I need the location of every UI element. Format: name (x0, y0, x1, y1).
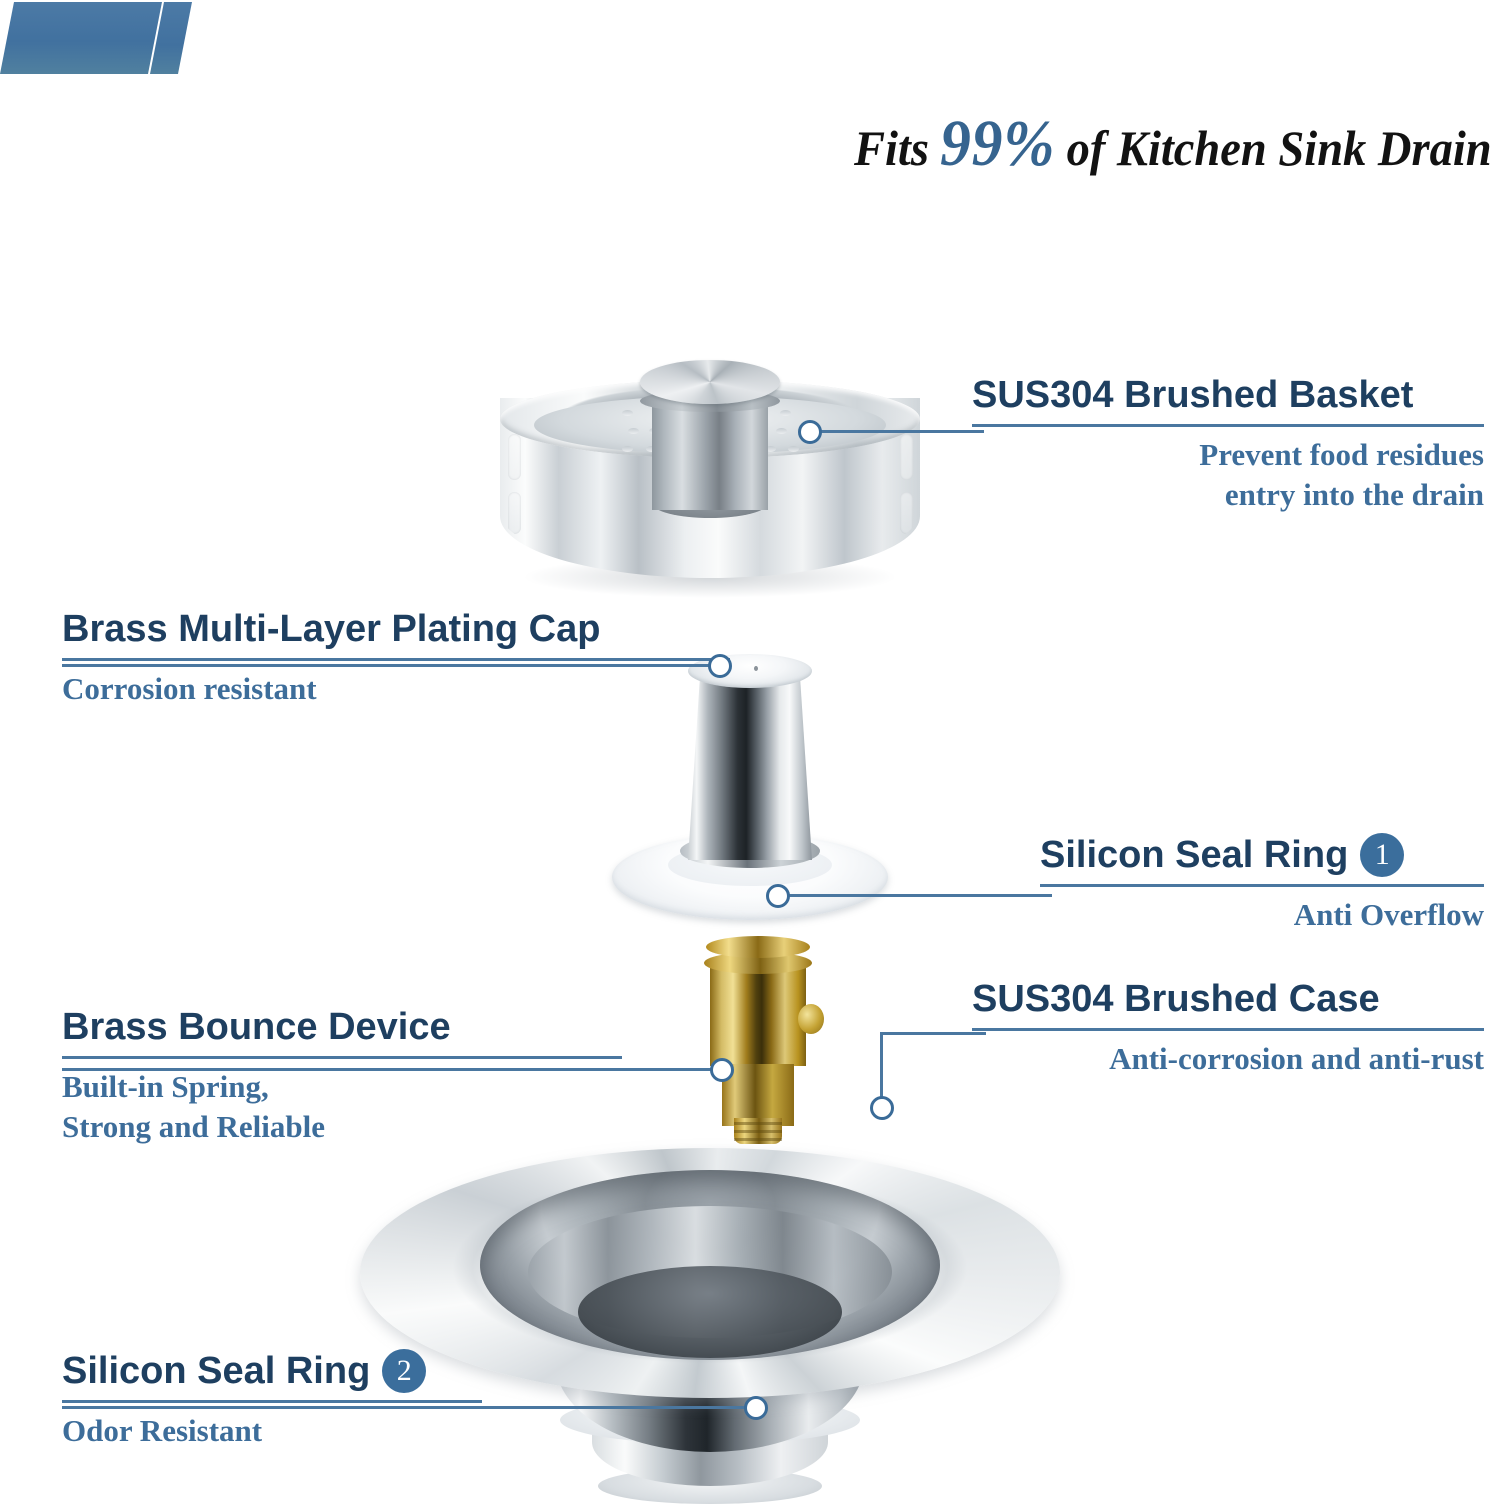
basket-hole (693, 446, 704, 452)
callout-rule (62, 1400, 482, 1403)
brass-threaded-stud (734, 1118, 782, 1144)
basket-hole (670, 428, 681, 434)
basket-hole (788, 446, 799, 452)
silicon-seal-ring-1-image (612, 834, 888, 920)
callout-rule (972, 1028, 1484, 1031)
brass-upper-ring (706, 936, 810, 958)
callout-rule (62, 1056, 622, 1059)
callout-brass-bounce-device: Brass Bounce Device Built-in Spring, Str… (62, 1004, 622, 1147)
silicon-seal-ring-2-lower (560, 1396, 860, 1444)
basket-center-post (652, 382, 768, 510)
basket-post-edge (640, 390, 780, 412)
subtitle-fits-claim: Fits99%of Kitchen Sink Drain (854, 112, 1492, 180)
basket-hole (654, 410, 665, 416)
basket-hole (755, 428, 766, 434)
callout-title-text: Silicon Seal Ring (1040, 832, 1348, 878)
subtitle-percentage: 99% (940, 107, 1055, 180)
callout-title: SUS304 Brushed Case (972, 976, 1484, 1022)
basket-hole (712, 428, 723, 434)
callout-title: Silicon Seal Ring 1 (1040, 832, 1484, 878)
callout-rule (1040, 884, 1484, 887)
callout-title: Silicon Seal Ring 2 (62, 1348, 482, 1394)
basket-floor-holes (620, 410, 810, 444)
callout-title: SUS304 Brushed Basket (972, 372, 1484, 418)
basket-slot-group (500, 400, 920, 572)
brass-thread-line (734, 1122, 782, 1125)
callout-subtitle-line2: Strong and Reliable (62, 1107, 622, 1147)
case-foot-bottom (598, 1468, 822, 1504)
basket-hole (749, 410, 760, 416)
sus304-brushed-basket-image (500, 360, 920, 615)
basket-slot-lower (508, 492, 521, 534)
connector-dot (766, 884, 790, 908)
brass-side-knob (798, 1004, 824, 1034)
brass-body (710, 966, 806, 1066)
basket-hole (622, 446, 633, 452)
basket-hole (741, 446, 752, 452)
cap-vent-pin (754, 666, 758, 671)
basket-post-top (640, 360, 780, 404)
basket-hole (622, 410, 633, 416)
connector-dot (710, 1058, 734, 1082)
brass-bounce-device-image (694, 930, 822, 1145)
basket-rim (500, 380, 920, 458)
brass-upper-ring-lower (704, 952, 812, 974)
basket-post-base (652, 488, 768, 518)
basket-slot-lower (900, 492, 913, 534)
callout-silicon-seal-ring-2: Silicon Seal Ring 2 Odor Resistant (62, 1348, 482, 1451)
case-bowl (480, 1170, 940, 1360)
basket-slot (900, 434, 913, 480)
connector-dot (798, 420, 822, 444)
callout-silicon-seal-ring-1: Silicon Seal Ring 1 Anti Overflow (1040, 832, 1484, 935)
brass-thread-line (734, 1130, 782, 1133)
callout-subtitle-line1: Prevent food residues (972, 435, 1484, 475)
case-bowl-inner (528, 1206, 892, 1338)
seal-ring-1-highlight (668, 844, 832, 886)
basket-hole (649, 428, 660, 434)
callout-rule (62, 658, 730, 661)
basket-hole (776, 428, 787, 434)
callout-subtitle-line1: Odor Resistant (62, 1411, 482, 1451)
case-neck (556, 1324, 864, 1452)
basket-shadow (522, 556, 898, 598)
callout-sus304-brushed-basket: SUS304 Brushed Basket Prevent food resid… (972, 372, 1484, 515)
product-exploded-diagram (0, 0, 1500, 1494)
callout-title: Brass Multi-Layer Plating Cap (62, 606, 730, 652)
callout-brass-multi-layer-plating-cap: Brass Multi-Layer Plating Cap Corrosion … (62, 606, 730, 709)
basket-hole (734, 428, 745, 434)
header-accent-parallelogram (0, 2, 162, 74)
callout-subtitle-line1: Corrosion resistant (62, 669, 730, 709)
basket-hole (691, 428, 702, 434)
case-foot (592, 1424, 828, 1486)
subtitle-suffix: of Kitchen Sink Drain (1067, 120, 1492, 176)
basket-hole (717, 446, 728, 452)
silicon-seal-ring-2-image (548, 1316, 872, 1372)
callout-subtitle-line1: Anti-corrosion and anti-rust (972, 1039, 1484, 1079)
case-bowl-deep (578, 1266, 842, 1358)
basket-hole (670, 446, 681, 452)
connector-dot (870, 1096, 894, 1120)
basket-hole (717, 410, 728, 416)
brass-thread-line (734, 1138, 782, 1141)
connector-dot (744, 1396, 768, 1420)
callout-subtitle-line2: entry into the drain (972, 475, 1484, 515)
basket-hole (685, 410, 696, 416)
basket-slot (508, 434, 521, 480)
basket-hole (765, 446, 776, 452)
header-banner: UPDATED ALL-METAL STRUCTURE (0, 0, 1500, 95)
connector-dot (708, 654, 732, 678)
basket-inner-floor (534, 396, 886, 454)
callout-title-text: Silicon Seal Ring (62, 1348, 370, 1394)
basket-hole (780, 410, 791, 416)
callout-title: Brass Bounce Device (62, 1004, 622, 1050)
callout-badge: 2 (382, 1349, 426, 1393)
basket-hole (628, 428, 639, 434)
basket-hole (646, 446, 657, 452)
callout-rule (972, 424, 1484, 427)
basket-body (500, 398, 920, 578)
callout-badge: 1 (1360, 833, 1404, 877)
page-title: UPDATED ALL-METAL STRUCTURE (182, 0, 1443, 80)
callout-subtitle-line1: Built-in Spring, (62, 1067, 622, 1107)
subtitle-prefix: Fits (854, 120, 929, 176)
cap-base-ring (680, 834, 820, 868)
callout-sus304-brushed-case: SUS304 Brushed Case Anti-corrosion and a… (972, 976, 1484, 1079)
callout-subtitle-line1: Anti Overflow (1040, 895, 1484, 935)
